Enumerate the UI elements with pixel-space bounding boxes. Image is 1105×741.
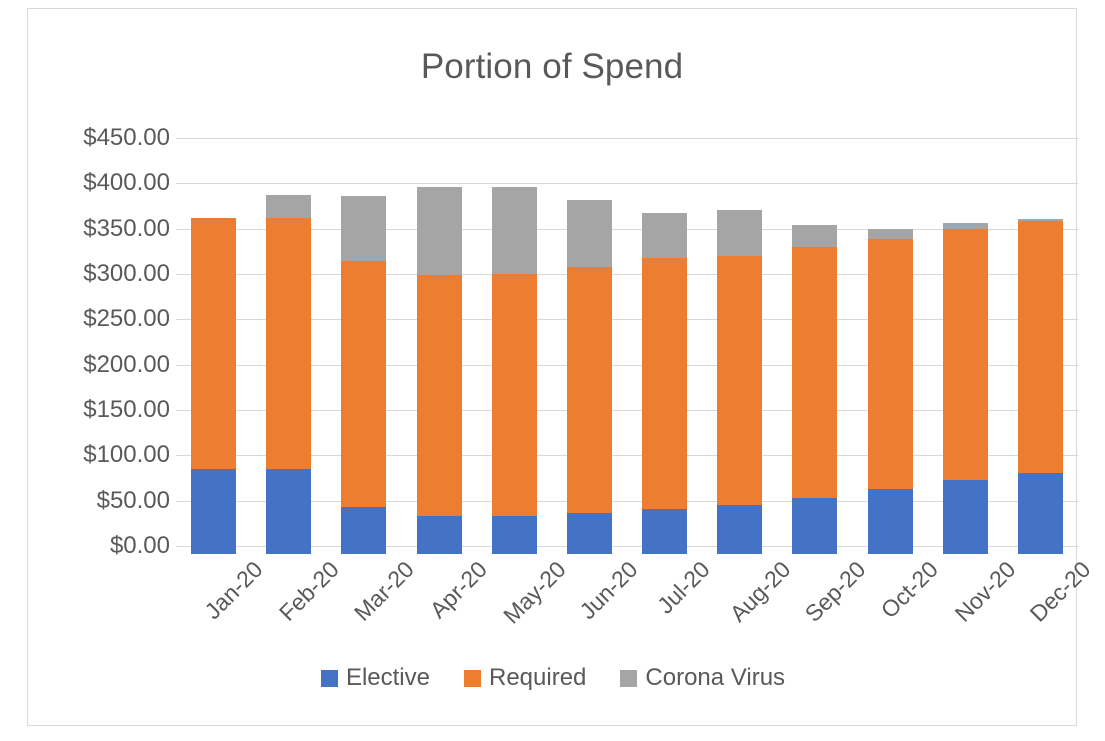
x-axis-slot: Mar-20 (326, 550, 401, 650)
legend-item-elective[interactable]: Elective (321, 664, 430, 692)
stacked-bar[interactable] (642, 213, 687, 554)
y-axis-label: $0.00 (110, 532, 170, 560)
bar-slot (853, 146, 928, 554)
x-axis-slot: Nov-20 (928, 550, 1003, 650)
bar-segment-elective[interactable] (341, 507, 386, 554)
x-axis-slot: May-20 (477, 550, 552, 650)
chart-legend: ElectiveRequiredCorona Virus (28, 664, 1078, 692)
x-axis-slot: Sep-20 (777, 550, 852, 650)
bar-segment-corona-virus[interactable] (868, 229, 913, 238)
bar-segment-required[interactable] (567, 267, 612, 514)
bar-segment-elective[interactable] (417, 516, 462, 554)
bar-segment-corona-virus[interactable] (341, 196, 386, 261)
plot-inner (176, 138, 1078, 546)
bar-segment-elective[interactable] (868, 489, 913, 554)
x-axis-label: Dec-20 (1025, 556, 1097, 628)
stacked-bar[interactable] (492, 187, 537, 554)
bar-segment-elective[interactable] (492, 516, 537, 554)
bar-segment-required[interactable] (943, 229, 988, 479)
bar-segment-corona-virus[interactable] (642, 213, 687, 257)
gridline (176, 138, 1078, 139)
bar-segment-elective[interactable] (792, 498, 837, 554)
bar-segment-required[interactable] (417, 275, 462, 516)
bar-slot (402, 146, 477, 554)
bar-segment-corona-virus[interactable] (717, 210, 762, 255)
bar-segment-required[interactable] (717, 256, 762, 505)
y-axis-label: $50.00 (97, 487, 170, 515)
legend-swatch-icon (321, 670, 338, 687)
legend-label: Required (489, 664, 586, 692)
bar-slot (552, 146, 627, 554)
bar-segment-required[interactable] (341, 261, 386, 507)
stacked-bar[interactable] (868, 229, 913, 554)
bar-series-group (176, 146, 1078, 554)
bar-segment-required[interactable] (492, 274, 537, 516)
y-axis-label: $350.00 (83, 215, 170, 243)
bar-segment-required[interactable] (1018, 221, 1063, 473)
legend-swatch-icon (464, 670, 481, 687)
bar-segment-elective[interactable] (642, 509, 687, 554)
bar-segment-required[interactable] (266, 218, 311, 469)
bar-slot (928, 146, 1003, 554)
x-axis-slot: Jul-20 (627, 550, 702, 650)
stacked-bar[interactable] (717, 210, 762, 554)
bar-segment-corona-virus[interactable] (266, 195, 311, 218)
y-axis-label: $200.00 (83, 351, 170, 379)
x-axis-slot: Jun-20 (552, 550, 627, 650)
y-axis-label: $450.00 (83, 124, 170, 152)
bar-segment-corona-virus[interactable] (492, 187, 537, 274)
y-axis-label: $150.00 (83, 396, 170, 424)
bar-slot (251, 146, 326, 554)
x-axis-tick-labels: Jan-20Feb-20Mar-20Apr-20May-20Jun-20Jul-… (176, 550, 1078, 650)
bar-segment-required[interactable] (868, 239, 913, 489)
bar-segment-elective[interactable] (943, 480, 988, 554)
y-axis-label: $250.00 (83, 305, 170, 333)
bar-segment-required[interactable] (642, 258, 687, 509)
stacked-bar[interactable] (567, 200, 612, 554)
bar-segment-corona-virus[interactable] (417, 187, 462, 275)
stacked-bar[interactable] (191, 218, 236, 554)
x-axis-slot: Aug-20 (702, 550, 777, 650)
x-axis-slot: Apr-20 (402, 550, 477, 650)
x-axis-slot: Dec-20 (1003, 550, 1078, 650)
y-axis-label: $400.00 (83, 169, 170, 197)
chart-container: Portion of Spend $450.00$400.00$350.00$3… (27, 8, 1077, 726)
bar-segment-elective[interactable] (717, 505, 762, 554)
stacked-bar[interactable] (266, 195, 311, 554)
legend-item-corona-virus[interactable]: Corona Virus (620, 664, 785, 692)
legend-label: Elective (346, 664, 430, 692)
bar-segment-corona-virus[interactable] (792, 225, 837, 247)
legend-label: Corona Virus (645, 664, 785, 692)
x-axis-slot: Feb-20 (251, 550, 326, 650)
x-axis-slot: Jan-20 (176, 550, 251, 650)
chart-title: Portion of Spend (28, 47, 1076, 87)
bar-segment-elective[interactable] (567, 513, 612, 554)
y-axis-tick-labels: $450.00$400.00$350.00$300.00$250.00$200.… (50, 130, 170, 546)
plot-area (176, 130, 1078, 546)
bar-segment-elective[interactable] (1018, 473, 1063, 554)
bar-segment-corona-virus[interactable] (567, 200, 612, 266)
stacked-bar[interactable] (417, 187, 462, 554)
bar-slot (326, 146, 401, 554)
legend-item-required[interactable]: Required (464, 664, 586, 692)
stacked-bar[interactable] (1018, 219, 1063, 554)
bar-segment-elective[interactable] (191, 469, 236, 554)
bar-segment-elective[interactable] (266, 469, 311, 554)
x-axis-slot: Oct-20 (853, 550, 928, 650)
bar-slot (777, 146, 852, 554)
y-axis-label: $300.00 (83, 260, 170, 288)
bar-segment-required[interactable] (792, 247, 837, 498)
stacked-bar[interactable] (943, 223, 988, 554)
bar-slot (176, 146, 251, 554)
bar-slot (702, 146, 777, 554)
bar-slot (1003, 146, 1078, 554)
stacked-bar[interactable] (792, 225, 837, 554)
y-axis-label: $100.00 (83, 441, 170, 469)
bar-slot (477, 146, 552, 554)
legend-swatch-icon (620, 670, 637, 687)
bar-segment-required[interactable] (191, 218, 236, 469)
bar-slot (627, 146, 702, 554)
stacked-bar[interactable] (341, 196, 386, 554)
